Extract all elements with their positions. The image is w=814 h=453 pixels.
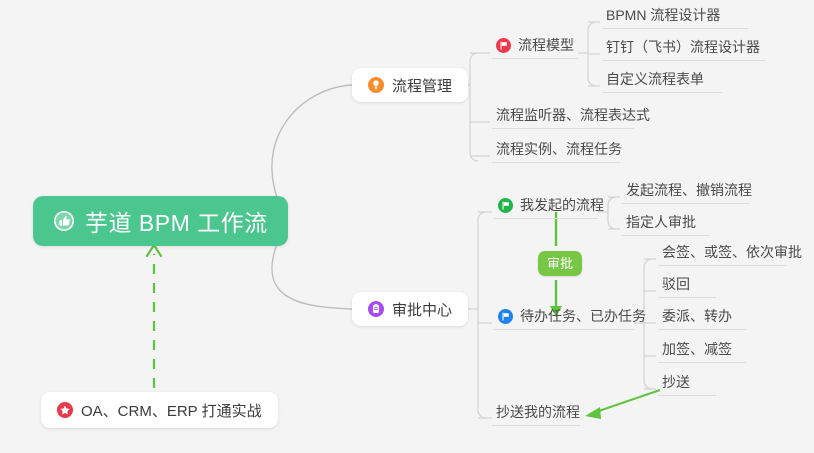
node-dingtalk-designer-label: 钉钉（飞书）流程设计器 bbox=[606, 38, 760, 56]
node-custom-form-label: 自定义流程表单 bbox=[606, 70, 704, 88]
node-process-model-label: 流程模型 bbox=[518, 36, 574, 54]
node-start-cancel-process[interactable]: 发起流程、撤销流程 bbox=[622, 181, 749, 204]
node-approval-center[interactable]: 审批中心 bbox=[352, 292, 468, 326]
node-bpmn-designer[interactable]: BPMN 流程设计器 bbox=[602, 6, 748, 29]
node-countersign-label: 会签、或签、依次审批 bbox=[662, 243, 802, 261]
node-reject[interactable]: 驳回 bbox=[658, 275, 716, 298]
root-node[interactable]: 芋道 BPM 工作流 bbox=[33, 196, 288, 246]
edge-ac-bracket bbox=[478, 212, 486, 418]
node-process-model[interactable]: 流程模型 bbox=[492, 36, 578, 59]
tag-approval-label: 审批 bbox=[547, 256, 573, 271]
node-listener-expression-label: 流程监听器、流程表达式 bbox=[496, 106, 650, 124]
node-cc-to-me-label: 抄送我的流程 bbox=[496, 403, 580, 421]
node-oa-crm-erp[interactable]: OA、CRM、ERP 打通实战 bbox=[41, 392, 278, 428]
node-approval-center-label: 审批中心 bbox=[392, 299, 452, 320]
node-listener-expression[interactable]: 流程监听器、流程表达式 bbox=[492, 106, 634, 129]
node-todo-done-task-label: 待办任务、已办任务 bbox=[520, 307, 646, 325]
node-countersign[interactable]: 会签、或签、依次审批 bbox=[658, 243, 786, 266]
node-assignee-approval-label: 指定人审批 bbox=[626, 213, 696, 231]
node-bpmn-designer-label: BPMN 流程设计器 bbox=[606, 6, 720, 24]
thumbs-up-icon bbox=[53, 210, 75, 232]
node-my-started-process-label: 我发起的流程 bbox=[520, 196, 604, 214]
annotation-arrow-oa-head bbox=[147, 245, 161, 256]
tag-approval[interactable]: 审批 bbox=[538, 251, 582, 276]
node-delegate-transfer[interactable]: 委派、转办 bbox=[658, 307, 746, 330]
node-cc-label: 抄送 bbox=[662, 373, 690, 391]
node-instance-task-label: 流程实例、流程任务 bbox=[496, 140, 622, 158]
edge-model-bracket bbox=[588, 22, 596, 86]
root-label: 芋道 BPM 工作流 bbox=[85, 204, 268, 238]
node-dingtalk-designer[interactable]: 钉钉（飞书）流程设计器 bbox=[602, 38, 765, 61]
node-oa-crm-erp-label: OA、CRM、ERP 打通实战 bbox=[81, 400, 262, 421]
flag-icon bbox=[496, 38, 511, 53]
node-cc[interactable]: 抄送 bbox=[658, 373, 716, 396]
node-add-remove-sign-label: 加签、减签 bbox=[662, 340, 732, 358]
annotation-arrow-cc-to-ccflow bbox=[590, 390, 660, 414]
node-delegate-transfer-label: 委派、转办 bbox=[662, 307, 732, 325]
node-cc-to-me[interactable]: 抄送我的流程 bbox=[492, 403, 580, 426]
clipboard-icon bbox=[368, 301, 384, 317]
node-process-management-label: 流程管理 bbox=[392, 75, 452, 96]
edge-root-to-process-management bbox=[272, 85, 352, 210]
node-assignee-approval[interactable]: 指定人审批 bbox=[622, 213, 710, 236]
node-process-management[interactable]: 流程管理 bbox=[352, 68, 468, 102]
node-instance-task[interactable]: 流程实例、流程任务 bbox=[492, 140, 620, 163]
flag-icon bbox=[498, 309, 513, 324]
node-todo-done-task[interactable]: 待办任务、已办任务 bbox=[494, 307, 634, 330]
node-reject-label: 驳回 bbox=[662, 275, 690, 293]
bulb-pin-icon bbox=[368, 77, 384, 93]
edge-started-bracket bbox=[608, 197, 616, 229]
star-icon bbox=[57, 402, 73, 418]
annotation-arrow-cc-head bbox=[585, 407, 601, 419]
node-start-cancel-process-label: 发起流程、撤销流程 bbox=[626, 181, 752, 199]
edge-pm-bracket bbox=[470, 53, 478, 161]
node-add-remove-sign[interactable]: 加签、减签 bbox=[658, 340, 746, 363]
node-custom-form[interactable]: 自定义流程表单 bbox=[602, 70, 722, 93]
flag-icon bbox=[498, 198, 513, 213]
node-my-started-process[interactable]: 我发起的流程 bbox=[494, 196, 598, 219]
mindmap-canvas: 芋道 BPM 工作流 流程管理 流程模型 BPMN 流程设计器 钉钉（飞书）流程 bbox=[0, 0, 814, 453]
